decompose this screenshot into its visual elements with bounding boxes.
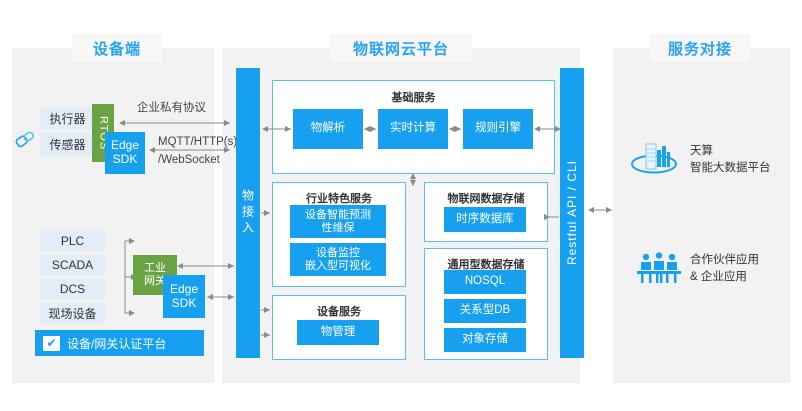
service-entry-partners-label: 合作伙伴应用 & 企业应用	[690, 252, 800, 287]
bigdata-building-icon	[630, 138, 678, 180]
service-panel	[613, 48, 790, 383]
base-services-internal-arrows	[258, 100, 568, 190]
api-service-arrow	[586, 200, 616, 222]
bigdata-line1: 天算	[690, 143, 800, 160]
auth-platform-bar[interactable]: ✔ 设备/网关认证平台	[35, 330, 204, 356]
source-plc[interactable]: PLC	[40, 231, 105, 251]
auth-platform-label: 设备/网关认证平台	[67, 335, 166, 352]
cloud-side-arrows	[256, 180, 566, 360]
endpoint-actuator[interactable]: 执行器	[40, 107, 95, 129]
ingress-bar-label: 物接入	[240, 189, 257, 237]
bigdata-line2: 智能大数据平台	[690, 160, 800, 177]
gateway-cloud-arrows	[172, 250, 242, 320]
plug-icon	[10, 124, 40, 154]
cloud-panel-title: 物联网云平台	[330, 34, 472, 62]
source-field-device[interactable]: 现场设备	[40, 303, 105, 323]
source-dcs[interactable]: DCS	[40, 279, 105, 299]
partners-line2: & 企业应用	[690, 269, 800, 286]
check-icon: ✔	[43, 336, 60, 351]
endpoint-sensor[interactable]: 传感器	[40, 133, 95, 155]
source-scada[interactable]: SCADA	[40, 255, 105, 275]
gateway-line1: 工业	[144, 262, 166, 275]
device-panel-title: 设备端	[72, 34, 162, 62]
partners-icon	[634, 250, 684, 286]
partners-line1: 合作伙伴应用	[690, 252, 800, 269]
service-panel-title: 服务对接	[650, 34, 750, 62]
device-cloud-arrows	[110, 90, 240, 180]
service-entry-bigdata-label: 天算 智能大数据平台	[690, 143, 800, 178]
